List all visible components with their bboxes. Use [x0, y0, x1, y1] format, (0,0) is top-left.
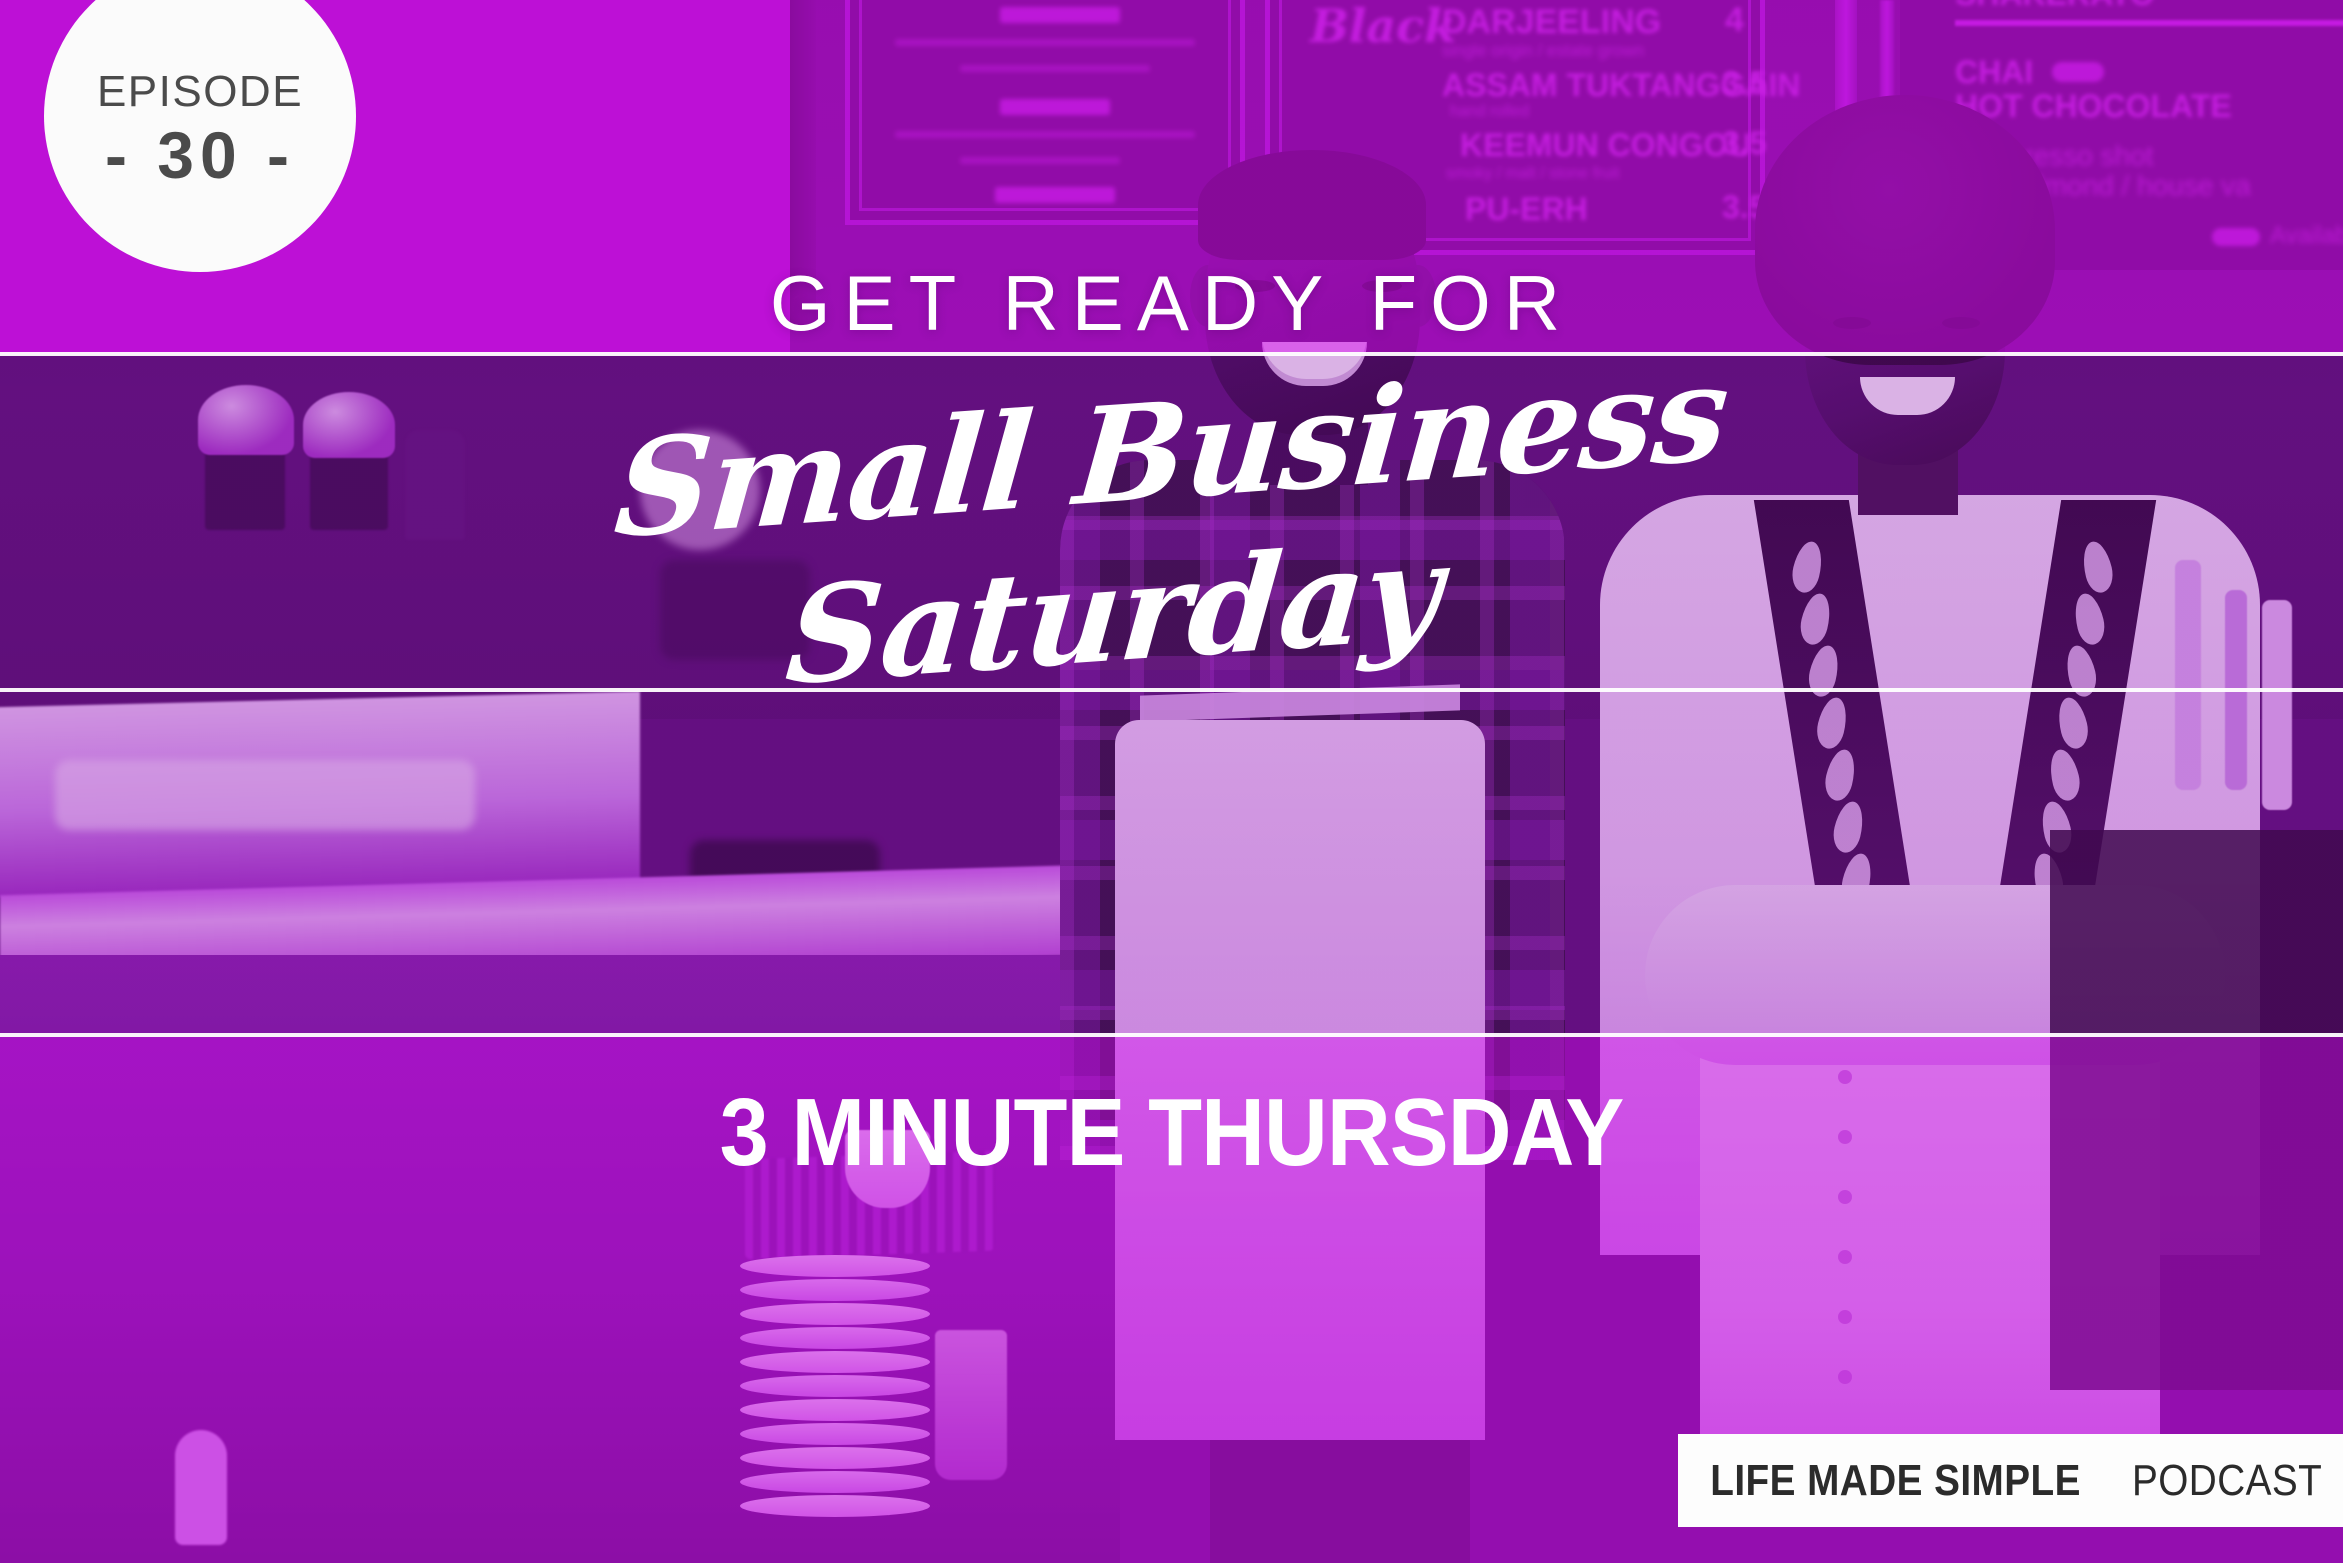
plate [740, 1399, 930, 1421]
cardigan-leaf [1830, 797, 1868, 857]
headline-3-minute-thursday: 3 MINUTE THURSDAY [94, 1078, 2250, 1188]
plate [740, 1303, 930, 1325]
cup-stack-4 [500, 1270, 596, 1563]
machine-drip-tray [55, 760, 475, 830]
tea-script-black: Black [1310, 0, 1456, 53]
plate [740, 1351, 930, 1373]
tea-item-0-price: 4 [1725, 1, 1744, 40]
plate [740, 1495, 930, 1517]
headline-script-block: Small Business Saturday [0, 385, 2343, 678]
podcast-episode-poster: Oolong Black DARJEELING 4 single origin … [0, 0, 2343, 1563]
plate [740, 1279, 930, 1301]
right-board-line-1: SHAKERATO [1955, 0, 2155, 13]
right-board-line-2: CHAI [1955, 54, 2033, 91]
cup-stack-3 [395, 1165, 497, 1563]
plate [740, 1471, 930, 1493]
cardigan-leaf [2046, 745, 2084, 805]
logo-secondary-text: PODCAST [2132, 1456, 2322, 1506]
plate-stack [740, 1255, 930, 1555]
plate [740, 1327, 930, 1349]
plate [740, 1255, 930, 1277]
plate [740, 1423, 930, 1445]
condiment-bottle [175, 1430, 227, 1545]
plate [740, 1375, 930, 1397]
divider-rule-bottom [0, 1033, 2343, 1037]
logo-primary-text: LIFE MADE SIMPLE [1711, 1456, 2082, 1506]
episode-label: EPISODE [97, 70, 303, 114]
cardigan-leaf [1813, 693, 1851, 753]
plate [740, 1447, 930, 1469]
cardigan-leaf [2054, 693, 2092, 753]
tea-item-0-name: DARJEELING [1442, 3, 1661, 42]
podcast-logo-plate: LIFE MADE SIMPLE PODCAST [1678, 1434, 2343, 1527]
drinking-glass [935, 1330, 1007, 1480]
cup-stack-2 [285, 1175, 389, 1563]
episode-number: - 30 - [105, 114, 295, 197]
cardigan-leaf [1821, 745, 1859, 805]
